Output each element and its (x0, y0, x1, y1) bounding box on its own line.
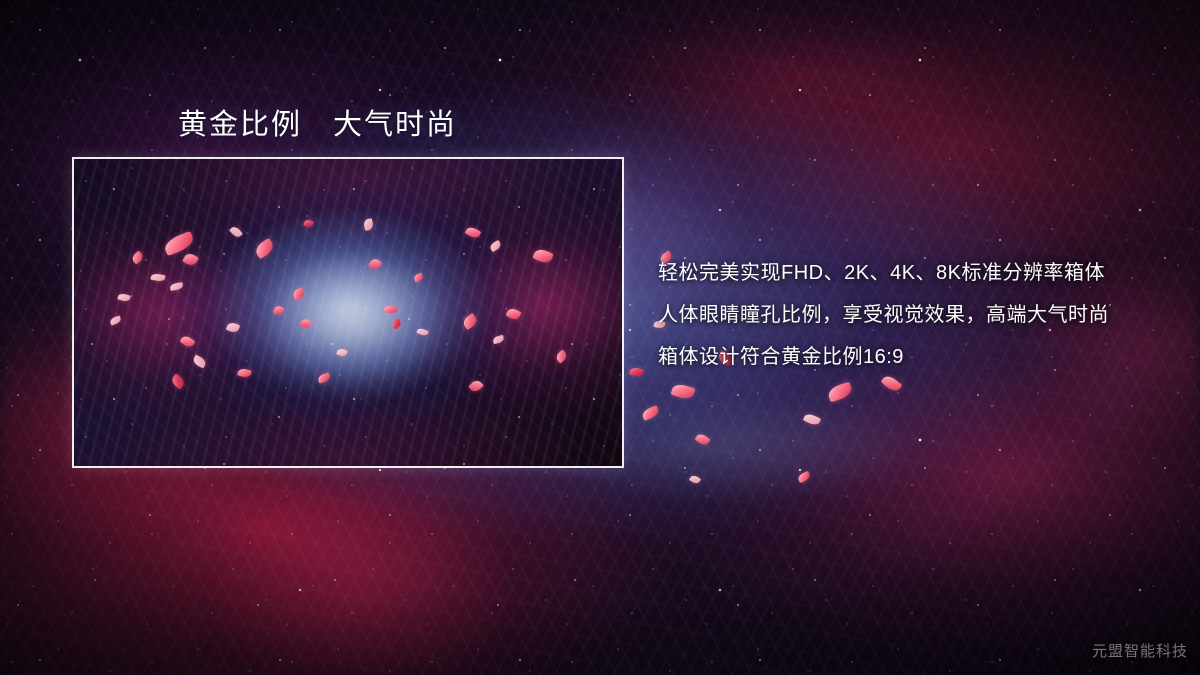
body-line-2: 人体眼睛瞳孔比例，享受视觉效果，高端大气时尚 (658, 294, 1178, 336)
body-copy-block: 轻松完美实现FHD、2K、4K、8K标准分辨率箱体 人体眼睛瞳孔比例，享受视觉效… (658, 252, 1178, 378)
slide-canvas: 黄金比例 大气时尚 轻松完美实现FHD、2K、4K、8K标准分辨率箱体 人体眼睛… (0, 0, 1200, 675)
slide-title: 黄金比例 大气时尚 (178, 101, 457, 143)
petal-icon (695, 432, 711, 447)
petal-icon (826, 381, 853, 402)
petal-icon (797, 470, 811, 482)
panel-core-glow (260, 251, 446, 386)
petal-icon (641, 406, 661, 422)
company-watermark: 元盟智能科技 (1092, 640, 1188, 661)
body-line-3: 箱体设计符合黄金比例16:9 (658, 336, 1178, 378)
petal-icon (689, 474, 701, 485)
petal-icon (671, 382, 696, 401)
petal-icon (629, 366, 644, 377)
petal-icon (803, 412, 821, 427)
display-frame-panel (72, 157, 624, 468)
body-line-1: 轻松完美实现FHD、2K、4K、8K标准分辨率箱体 (658, 252, 1178, 294)
